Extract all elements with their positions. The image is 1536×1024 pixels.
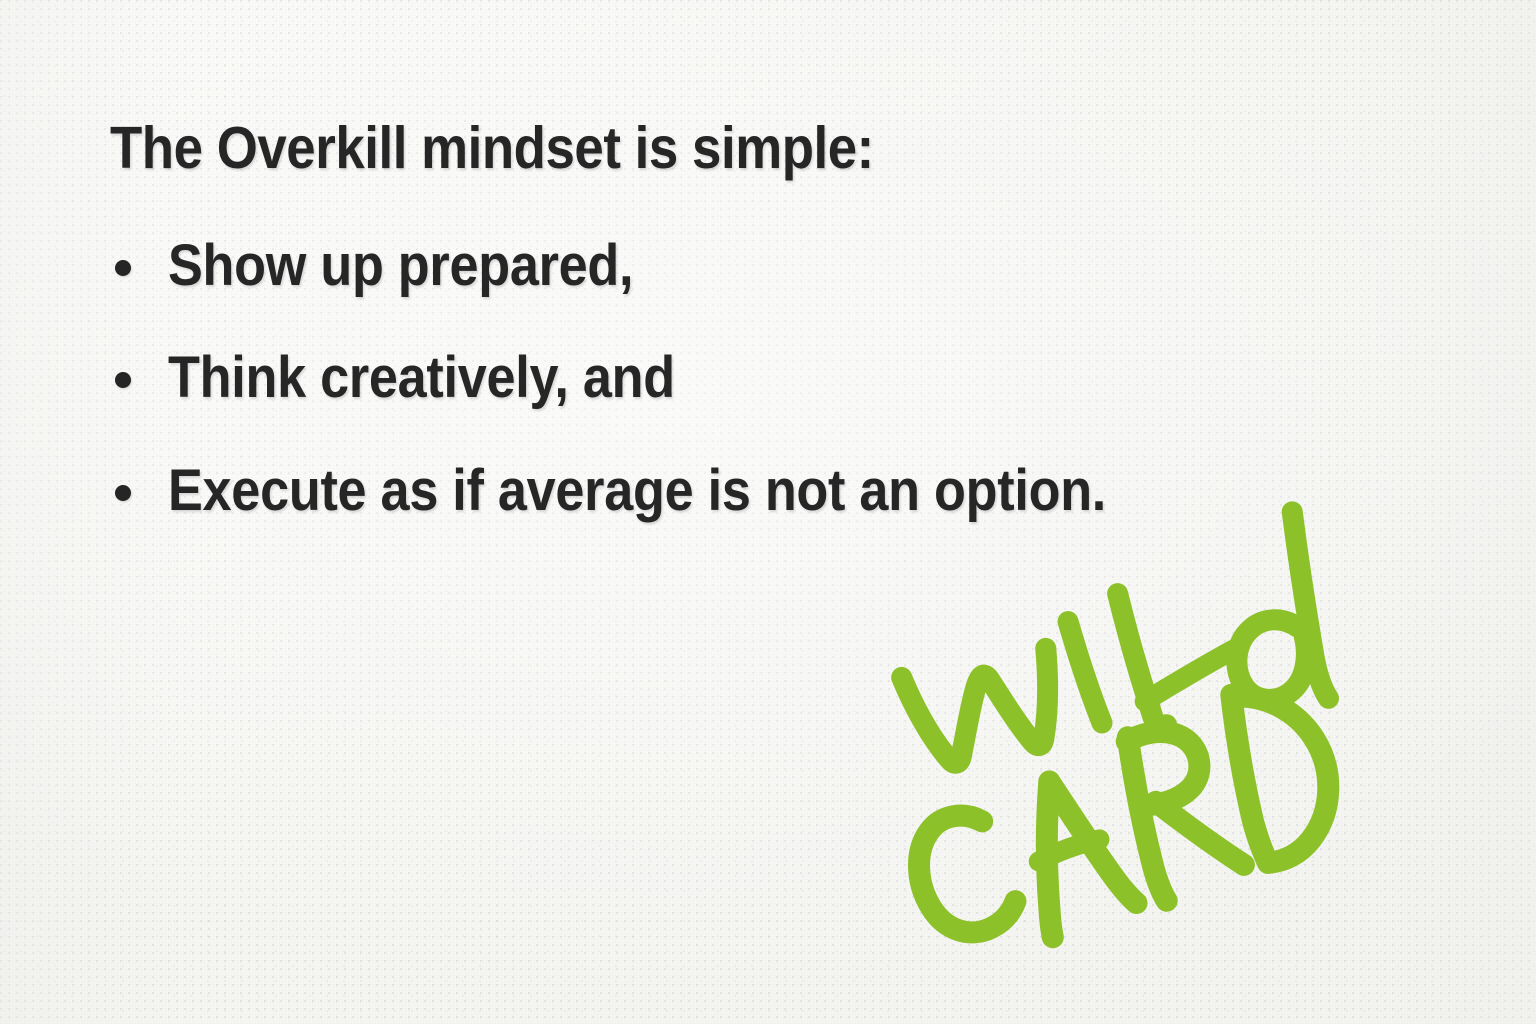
list-item: Execute as if average is not an option. bbox=[110, 461, 1440, 521]
list-item-label: Show up prepared, bbox=[168, 236, 633, 296]
list-item: Show up prepared, bbox=[110, 236, 1440, 296]
list-item: Think creatively, and bbox=[110, 348, 1440, 408]
page-title: The Overkill mindset is simple: bbox=[110, 118, 1300, 180]
bullet-dot-icon bbox=[115, 485, 131, 501]
list-item-label: Think creatively, and bbox=[168, 348, 675, 408]
bullet-dot-icon bbox=[115, 260, 131, 276]
slide-canvas: The Overkill mindset is simple: Show up … bbox=[0, 0, 1536, 1024]
bullet-dot-icon bbox=[115, 372, 131, 388]
bullet-list: Show up prepared, Think creatively, and … bbox=[110, 236, 1440, 521]
list-item-label: Execute as if average is not an option. bbox=[168, 461, 1106, 521]
slide-text-block: The Overkill mindset is simple: Show up … bbox=[110, 118, 1440, 521]
